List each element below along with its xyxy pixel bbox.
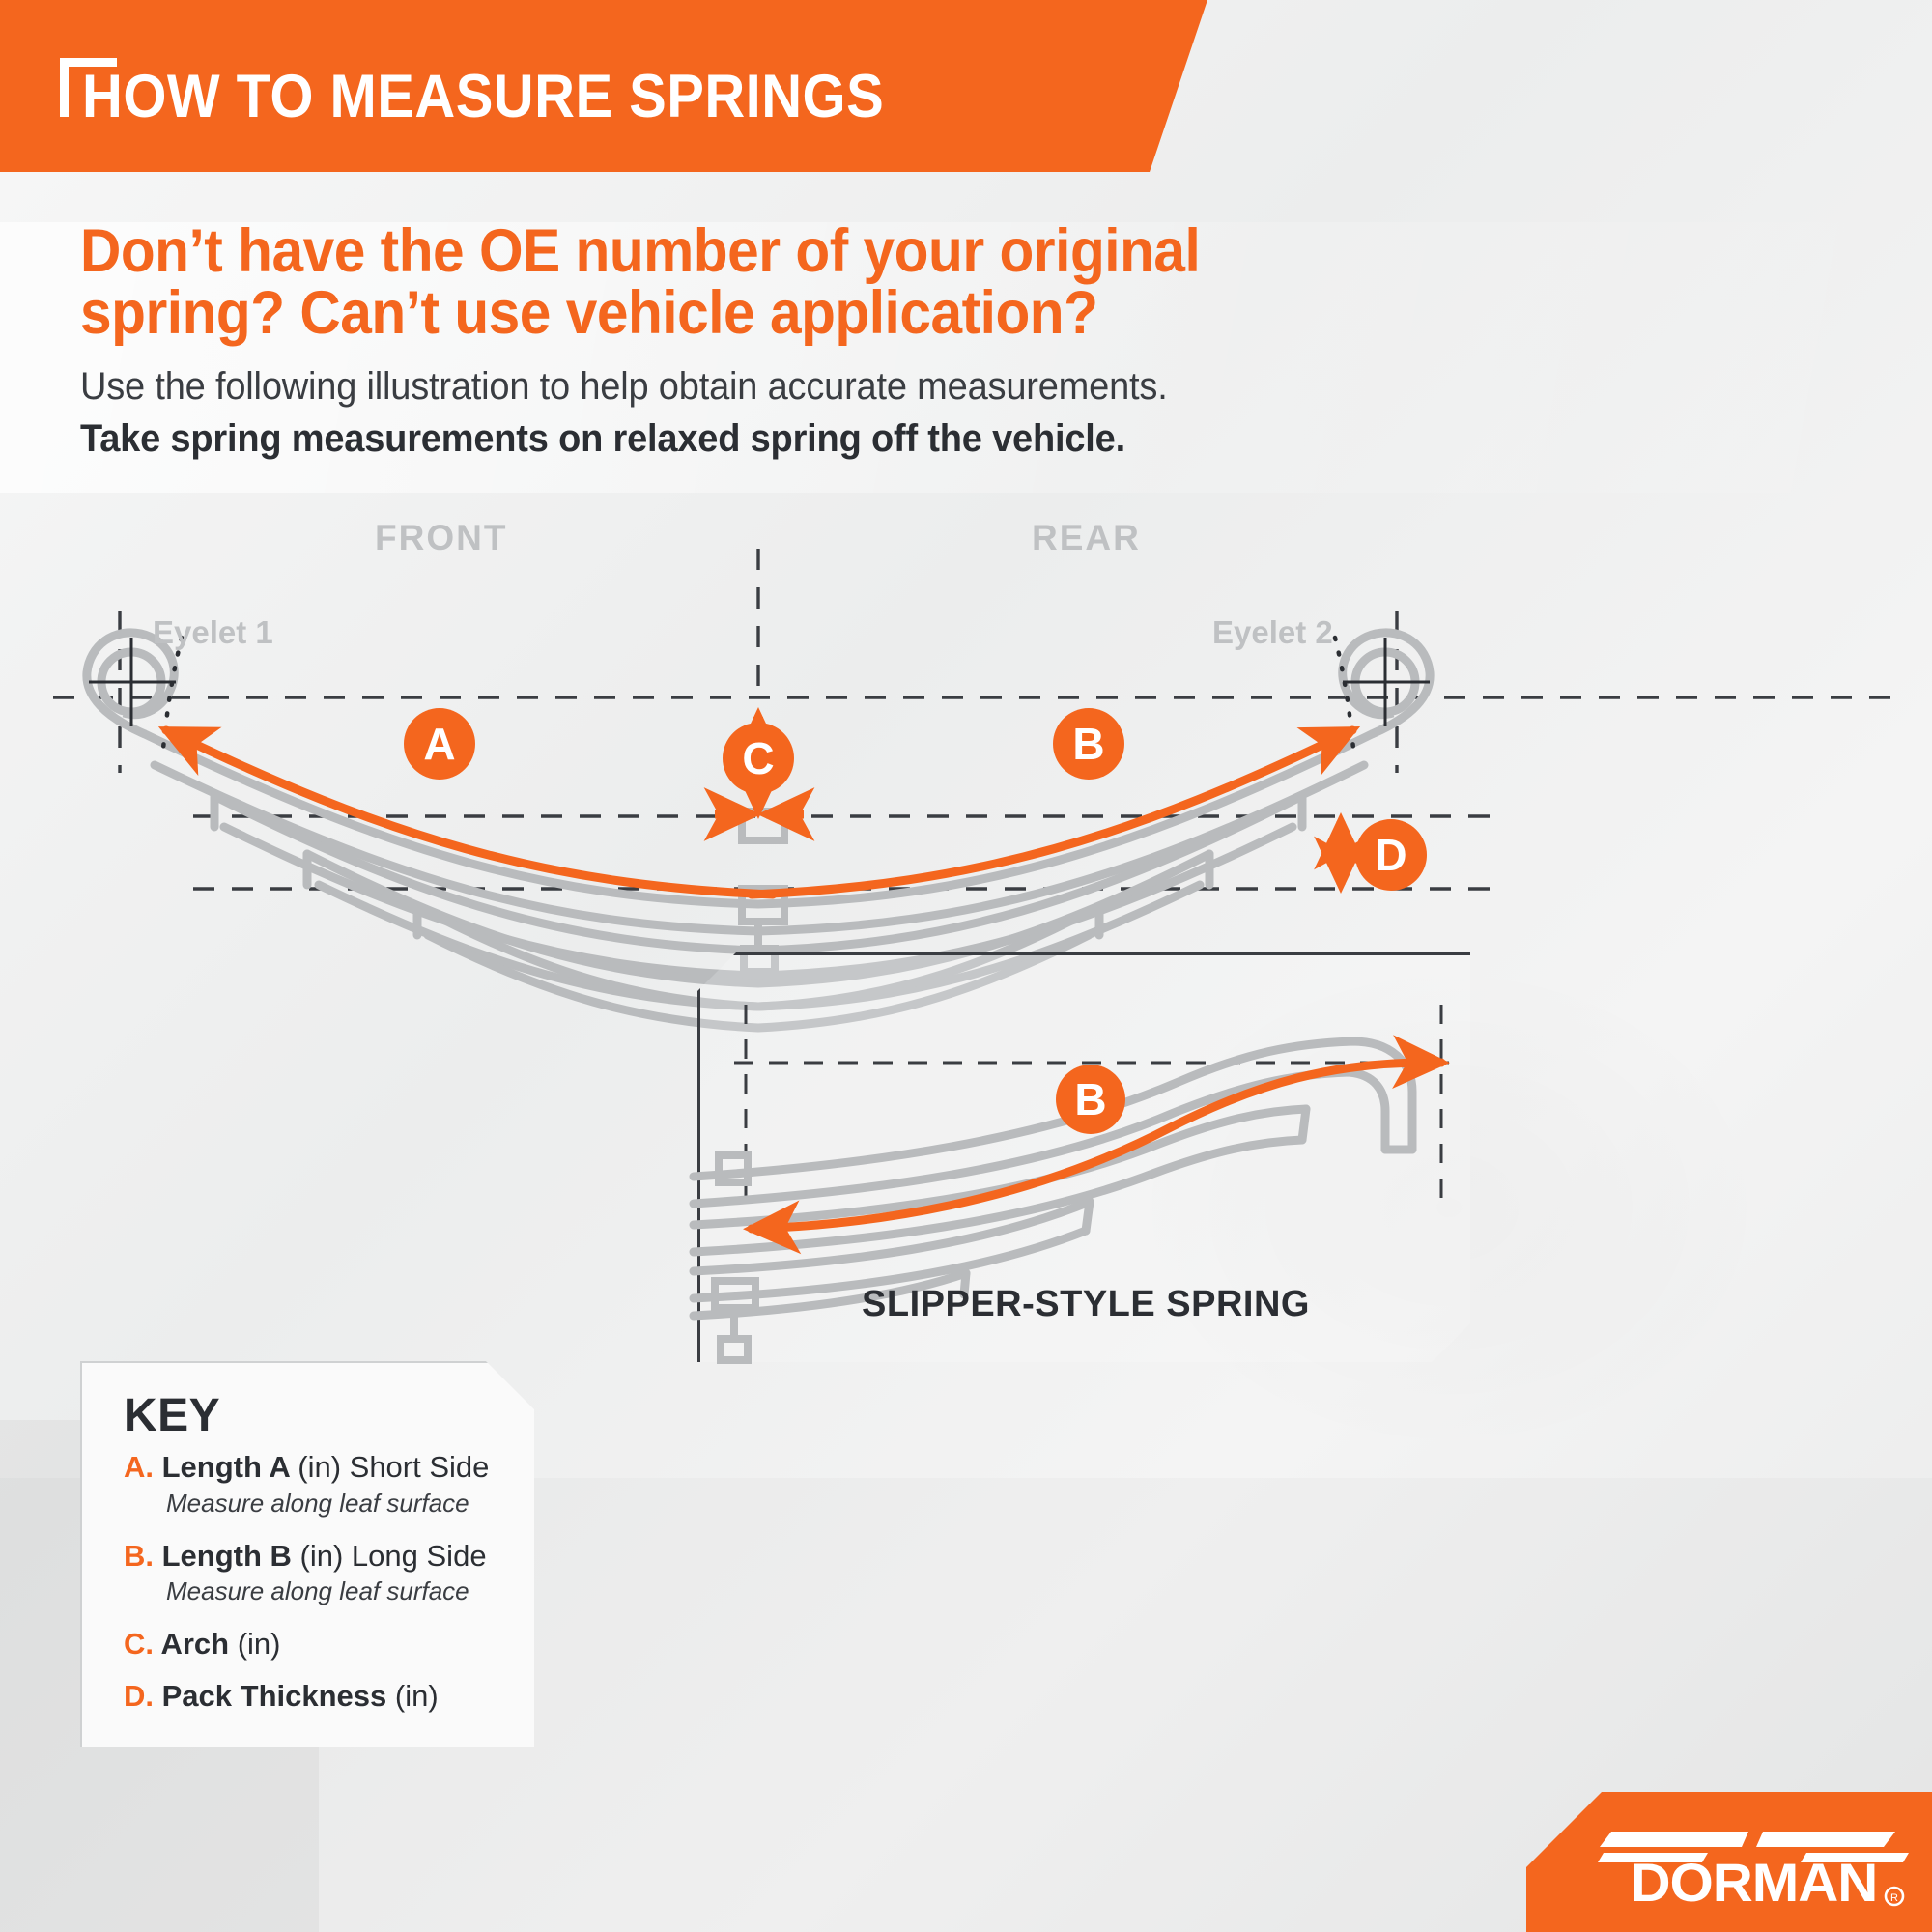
label-eyelet-1: Eyelet 1 [153,614,273,651]
key-item-letter: D. [124,1679,162,1713]
badge-d: D [1355,819,1427,891]
slipper-panel-title: SLIPPER-STYLE SPRING [844,1284,1327,1325]
intro-body-line-2: Take spring measurements on relaxed spri… [80,417,1457,461]
registered-mark-letter: R [1890,1892,1898,1904]
key-item-unit: (in) [238,1627,281,1661]
key-item-unit: (in) [395,1679,439,1713]
key-item: B. Length B (in) Long SideMeasure along … [124,1538,539,1625]
key-list: A. Length A (in) Short SideMeasure along… [124,1449,539,1730]
key-item-name: Pack Thickness [162,1679,395,1713]
key-item-spacer [124,1610,539,1624]
key-item-name: Length B [162,1539,300,1573]
intro-body-line-1: Use the following illustration to help o… [80,365,1457,409]
badge-a: A [404,708,475,780]
label-eyelet-2: Eyelet 2 [1212,614,1333,651]
key-item-spacer [124,1715,539,1728]
key-item-note: Measure along leaf surface [166,1574,539,1610]
key-item: D. Pack Thickness (in) [124,1678,539,1728]
key-item-name: Length A [162,1450,298,1484]
key-item-note: Measure along leaf surface [166,1486,539,1522]
key-item: C. Arch (in) [124,1626,539,1676]
headline: Don’t have the OE number of your origina… [80,220,1428,345]
page-title: HOW TO MEASURE SPRINGS [82,62,884,131]
key-item-letter: B. [124,1539,162,1573]
label-front: FRONT [375,518,507,558]
logo-wordmark: DORMAN [1630,1853,1877,1913]
key-item-label: D. Pack Thickness (in) [124,1678,539,1715]
key-title: KEY [124,1389,220,1442]
label-rear: REAR [1032,518,1141,558]
key-item-label: A. Length A (in) Short Side [124,1449,539,1486]
badge-b-slipper: B [1056,1065,1125,1134]
key-item-letter: C. [124,1627,160,1661]
key-item-unit: (in) Short Side [298,1450,489,1484]
key-item-label: B. Length B (in) Long Side [124,1538,539,1575]
key-item-name: Arch [160,1627,237,1661]
key-item-spacer [124,1522,539,1536]
key-item-label: C. Arch (in) [124,1626,539,1662]
key-item-unit: (in) Long Side [300,1539,487,1573]
dorman-logo: DORMAN R [1594,1826,1913,1913]
key-item-spacer [124,1662,539,1676]
headline-line-1: Don’t have the OE number of your origina… [80,220,1428,282]
key-item-letter: A. [124,1450,162,1484]
key-item: A. Length A (in) Short SideMeasure along… [124,1449,539,1536]
badge-b: B [1053,708,1124,780]
headline-line-2: spring? Can’t use vehicle application? [80,282,1428,344]
badge-c: C [723,723,794,794]
